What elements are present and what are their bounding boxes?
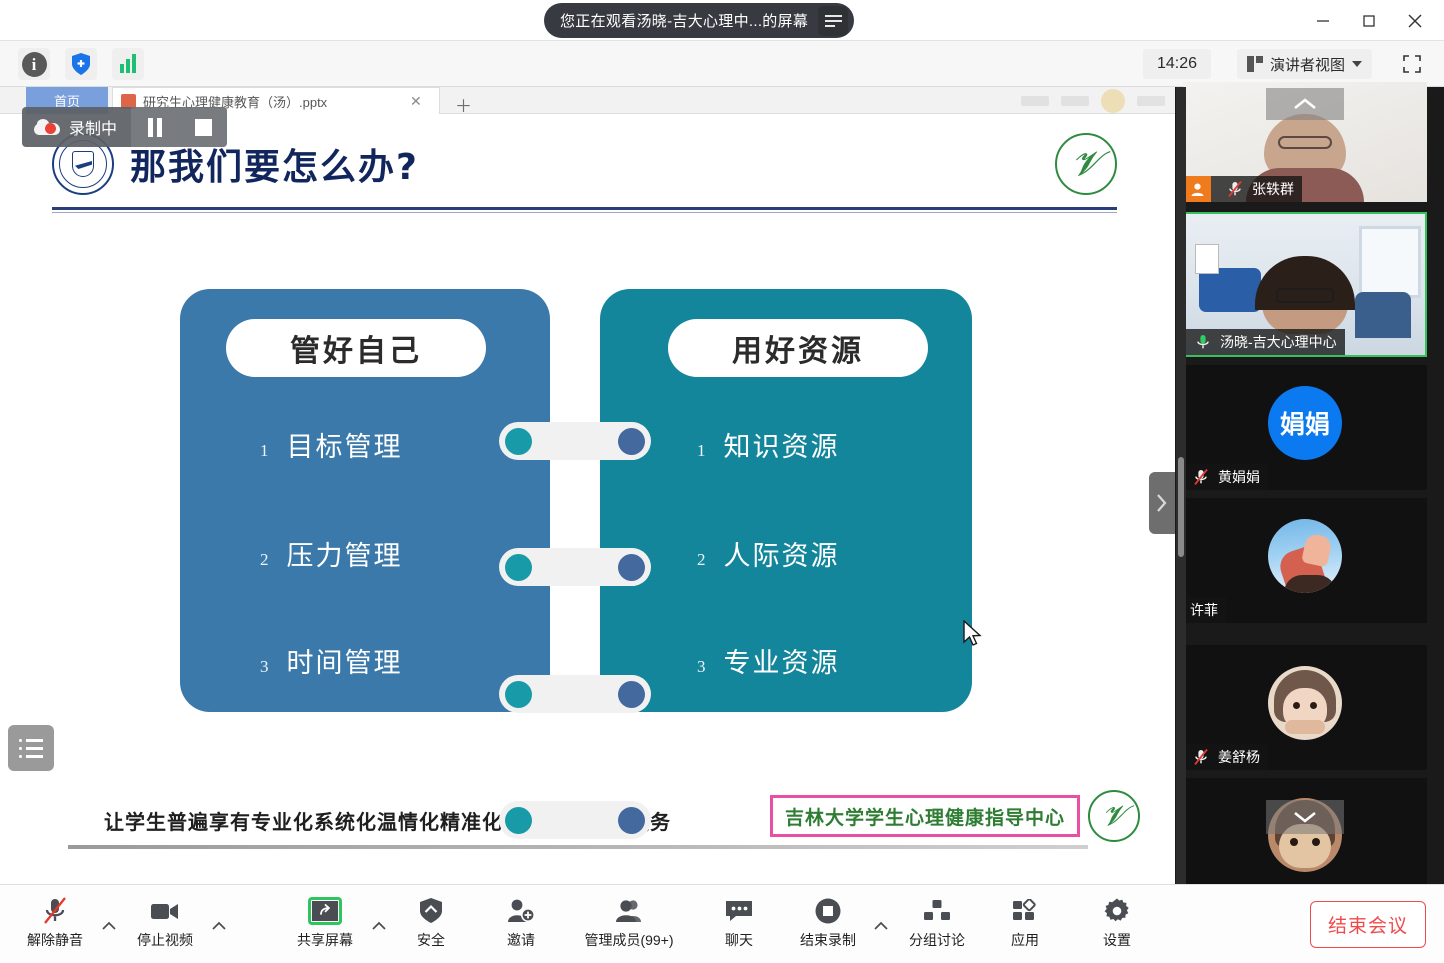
video-button[interactable]: 停止视频 — [128, 891, 202, 957]
participant-nameplate: 姜舒杨 — [1183, 744, 1268, 770]
end-meeting-button[interactable]: 结束会议 — [1310, 901, 1426, 948]
fullscreen-icon[interactable] — [1392, 49, 1432, 79]
network-stats-icon[interactable] — [112, 48, 144, 80]
view-mode-label: 演讲者视图 — [1270, 54, 1345, 75]
participant-nameplate: 许菲 — [1183, 597, 1226, 623]
filmstrip-scrollbar[interactable] — [1176, 87, 1186, 884]
slide-divider — [52, 207, 1117, 210]
window-minimize-button[interactable] — [1300, 0, 1346, 41]
participant-tile[interactable]: 张轶群 — [1183, 82, 1427, 202]
scroll-down-button[interactable] — [1266, 800, 1344, 834]
avatar — [1268, 666, 1342, 740]
participants-button[interactable]: 管理成员(99+) — [562, 891, 696, 957]
participant-name: 张轶群 — [1252, 179, 1294, 199]
mouse-cursor — [962, 620, 984, 650]
chevron-down-icon — [1352, 61, 1362, 67]
participant-tile[interactable] — [1183, 778, 1427, 888]
window-close-button[interactable] — [1392, 0, 1438, 41]
stop-record-icon — [814, 895, 842, 927]
minimize-icon — [1315, 13, 1331, 29]
share-options-caret[interactable] — [368, 915, 390, 937]
avatar — [1268, 519, 1342, 593]
hamburger-menu-icon[interactable] — [818, 6, 848, 36]
panel-left-heading: 管好自己 — [226, 319, 486, 377]
collapse-filmstrip-button[interactable] — [1149, 472, 1175, 534]
panel-connector — [499, 801, 651, 839]
participant-nameplate: 汤晓-吉大心理中心 — [1185, 329, 1345, 355]
microphone-muted-icon — [1190, 468, 1212, 486]
participants-button-label: 管理成员(99+) — [584, 930, 673, 950]
chevron-down-icon — [1292, 810, 1318, 824]
add-person-icon — [506, 895, 536, 927]
maximize-icon — [1361, 13, 1377, 29]
new-tab-icon[interactable]: ＋ — [455, 92, 472, 117]
scroll-up-button[interactable] — [1266, 88, 1344, 120]
pause-recording-button[interactable] — [131, 107, 179, 147]
panel-right-item-3: 3 专业资源 — [697, 641, 840, 680]
chat-button-label: 聊天 — [725, 930, 753, 950]
settings-button[interactable]: 设置 — [1086, 891, 1148, 957]
participant-filmstrip: 张轶群 汤晓-吉大心理中心 娟娟 — [1175, 87, 1444, 884]
participant-tile[interactable]: 娟娟 黄娟娟 — [1183, 365, 1427, 490]
close-icon — [1406, 12, 1424, 30]
pause-icon — [148, 118, 162, 137]
stop-recording-button-label: 结束录制 — [800, 930, 856, 950]
participant-tile[interactable]: 许菲 — [1183, 498, 1427, 623]
chevron-up-icon — [371, 921, 387, 931]
host-badge-icon — [1183, 176, 1211, 202]
microphone-muted-icon — [1224, 180, 1246, 198]
window-maximize-button[interactable] — [1346, 0, 1392, 41]
video-options-caret[interactable] — [208, 915, 230, 937]
panel-left-item-3: 3 时间管理 — [260, 641, 403, 680]
stop-icon — [195, 119, 212, 136]
video-button-label: 停止视频 — [137, 930, 193, 950]
share-screen-icon — [308, 895, 342, 927]
slide-footer-divider — [68, 845, 1088, 849]
panel-right-item-2: 2 人际资源 — [697, 534, 840, 573]
audio-options-caret[interactable] — [98, 915, 120, 937]
slide-footer-badge: 吉林大学学生心理健康指导中心 — [770, 795, 1080, 837]
microphone-muted-icon — [41, 895, 69, 927]
participant-name: 许菲 — [1190, 600, 1218, 620]
security-button-label: 安全 — [417, 930, 445, 950]
view-mode-selector[interactable]: 演讲者视图 — [1237, 49, 1372, 79]
recording-label: 录制中 — [69, 115, 117, 139]
participant-nameplate: 张轶群 — [1183, 176, 1302, 202]
recording-indicator: 录制中 — [22, 107, 227, 147]
breakout-rooms-icon — [923, 895, 951, 927]
participant-name: 姜舒杨 — [1218, 747, 1260, 767]
panel-right-item-1: 1 知识资源 — [697, 425, 840, 464]
shared-app-window-controls — [905, 89, 1165, 113]
security-shield-icon[interactable] — [65, 48, 97, 80]
participants-icon — [614, 895, 644, 927]
panel-connector — [499, 422, 651, 460]
security-button[interactable]: 安全 — [400, 891, 462, 957]
apps-button[interactable]: 应用 — [994, 891, 1056, 957]
list-panel-toggle-icon[interactable] — [8, 725, 54, 771]
zoom-meeting-window: 您正在观看汤晓-吉大心理中...的屏幕 i — [0, 0, 1444, 963]
apps-icon — [1011, 895, 1039, 927]
psych-center-flower-logo-small-icon: 𝓥 — [1088, 790, 1140, 842]
chevron-up-icon — [101, 921, 117, 931]
participant-name: 黄娟娟 — [1218, 467, 1260, 487]
participant-tile-active-speaker[interactable]: 汤晓-吉大心理中心 — [1183, 212, 1427, 357]
panel-manage-self: 管好自己 1 目标管理 2 压力管理 3 时间管理 — [180, 289, 550, 712]
presentation-slide: 那我们要怎么办? 𝓥 管好自己 1 目标管理 2 压力管理 3 — [0, 115, 1175, 884]
close-tab-icon[interactable]: ✕ — [410, 93, 422, 110]
stop-recording-button[interactable]: 结束录制 — [788, 891, 868, 957]
meeting-clock: 14:26 — [1143, 49, 1211, 79]
stop-recording-button[interactable] — [179, 107, 227, 147]
shared-screen-content: 首页 研究生心理健康教育（汤）.pptx ✕ ＋ 那我们要怎么办? — [0, 87, 1175, 884]
filmstrip-scrollbar-thumb[interactable] — [1178, 457, 1184, 557]
avatar: 娟娟 — [1268, 386, 1342, 460]
share-screen-button-label: 共享屏幕 — [297, 930, 353, 950]
panel-left-item-2: 2 压力管理 — [260, 534, 403, 573]
chevron-up-icon — [1292, 97, 1318, 111]
psych-center-flower-logo-icon: 𝓥 — [1055, 133, 1117, 195]
avatar-initials: 娟娟 — [1280, 405, 1330, 441]
participant-nameplate: 黄娟娟 — [1183, 464, 1268, 490]
share-screen-button[interactable]: 共享屏幕 — [286, 891, 364, 957]
invite-button[interactable]: 邀请 — [490, 891, 552, 957]
meeting-control-bar: 解除静音 停止视频 共享屏幕 — [0, 884, 1444, 963]
screen-share-banner: 您正在观看汤晓-吉大心理中...的屏幕 — [544, 3, 854, 38]
participant-name: 汤晓-吉大心理中心 — [1220, 332, 1337, 352]
window-titlebar: 您正在观看汤晓-吉大心理中...的屏幕 — [0, 0, 1444, 41]
microphone-muted-icon — [1190, 748, 1212, 766]
gear-icon — [1103, 895, 1131, 927]
cloud-record-icon — [34, 119, 60, 135]
shield-icon — [418, 895, 444, 927]
panel-right-heading: 用好资源 — [668, 319, 928, 377]
meeting-subtoolbar: i 14:26 演讲者视图 — [0, 41, 1444, 87]
chevron-up-icon — [873, 921, 889, 931]
panel-use-resources: 用好资源 1 知识资源 2 人际资源 3 专业资源 — [600, 289, 972, 712]
apps-button-label: 应用 — [1011, 930, 1039, 950]
mute-button[interactable]: 解除静音 — [18, 891, 92, 957]
chat-bubble-icon — [724, 895, 754, 927]
breakout-rooms-button-label: 分组讨论 — [909, 930, 965, 950]
mute-button-label: 解除静音 — [27, 930, 83, 950]
speaker-view-icon — [1247, 56, 1263, 72]
info-icon[interactable]: i — [18, 48, 50, 80]
recording-options-caret[interactable] — [870, 915, 892, 937]
user-avatar-ghost — [1101, 89, 1125, 113]
camera-icon — [149, 895, 181, 927]
screen-share-banner-text: 您正在观看汤晓-吉大心理中...的屏幕 — [560, 10, 808, 31]
chat-button[interactable]: 聊天 — [706, 891, 772, 957]
panel-left-item-1: 1 目标管理 — [260, 425, 403, 464]
breakout-rooms-button[interactable]: 分组讨论 — [898, 891, 976, 957]
panel-connector — [499, 548, 651, 586]
microphone-active-icon — [1192, 333, 1214, 351]
panel-connector — [499, 675, 651, 713]
invite-button-label: 邀请 — [507, 930, 535, 950]
settings-button-label: 设置 — [1103, 930, 1131, 950]
participant-tile[interactable]: 姜舒杨 — [1183, 645, 1427, 770]
chevron-up-icon — [211, 921, 227, 931]
chevron-right-icon — [1155, 492, 1169, 514]
